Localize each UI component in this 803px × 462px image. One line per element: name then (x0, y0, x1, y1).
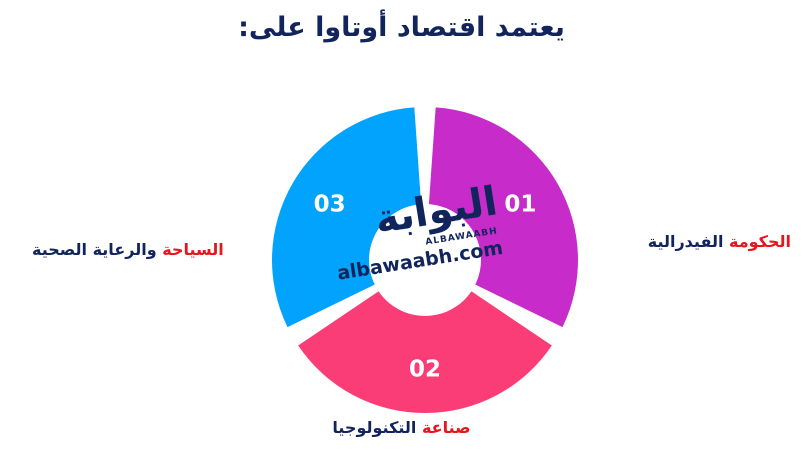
label-federal-government-highlight: الحكومة (729, 232, 791, 251)
label-technology-industry: صناعة التكنولوجيا (0, 418, 803, 437)
label-federal-government-rest: الفيدرالية (648, 232, 724, 251)
label-technology-industry-highlight: صناعة (422, 418, 471, 437)
infographic-canvas: يعتمد اقتصاد أوتاوا على: 01 02 03 البواب… (0, 0, 803, 462)
pie-slice-01-number: 01 (504, 191, 536, 217)
pie-chart: 01 02 03 (270, 105, 580, 415)
pie-slice-02-number: 02 (409, 357, 441, 383)
pie-center-hub (369, 204, 481, 316)
pie-slice-03-number: 03 (314, 191, 346, 217)
label-tourism-healthcare-rest: والرعاية الصحية (32, 240, 157, 259)
label-tourism-healthcare: السياحة والرعاية الصحية (32, 240, 224, 259)
label-technology-industry-rest: التكنولوجيا (332, 418, 416, 437)
page-title: يعتمد اقتصاد أوتاوا على: (0, 10, 803, 46)
label-tourism-healthcare-highlight: السياحة (162, 240, 224, 259)
pie-chart-svg: 01 02 03 (270, 105, 580, 415)
label-federal-government: الحكومة الفيدرالية (648, 232, 791, 251)
